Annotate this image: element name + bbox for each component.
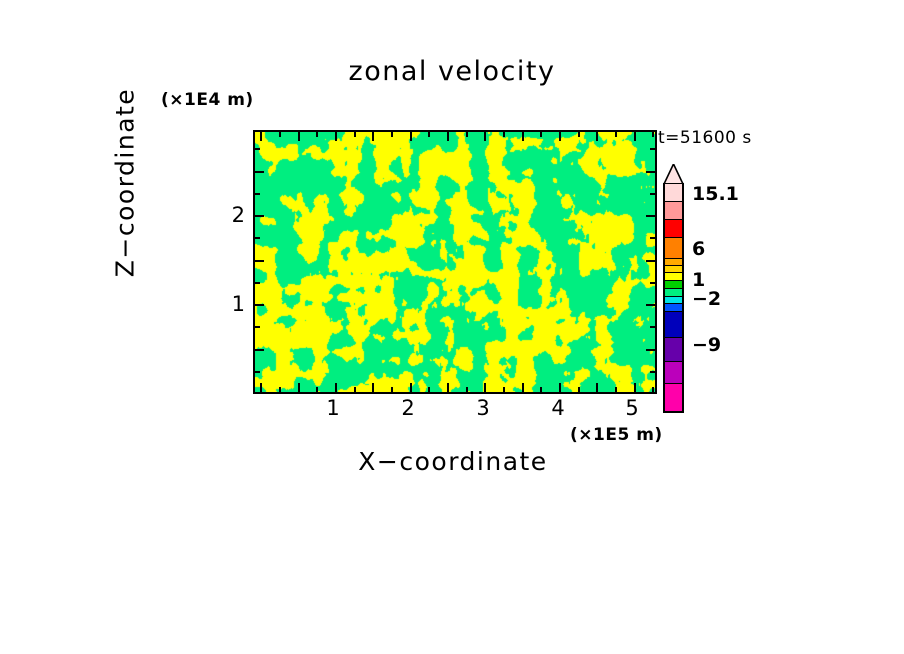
axis-tick-mark: [484, 132, 486, 141]
y-axis-unit-label: (×1E4 m): [161, 90, 254, 110]
colorbar-band: [663, 303, 684, 311]
axis-tick-mark: [503, 132, 505, 137]
axis-tick-mark: [540, 387, 542, 392]
axis-tick-mark: [652, 132, 654, 137]
axis-tick-mark: [615, 132, 617, 137]
axis-tick-mark: [578, 387, 580, 392]
axis-tick-mark: [428, 132, 430, 137]
axis-tick-mark: [255, 171, 264, 173]
axis-tick-mark: [372, 383, 374, 392]
axis-tick-mark: [410, 383, 412, 392]
axis-tick-mark: [652, 387, 654, 392]
axis-tick-mark: [354, 132, 356, 137]
time-annotation: t=51600 s: [658, 128, 752, 148]
axis-tick-mark: [503, 387, 505, 392]
axis-tick-mark: [255, 215, 264, 217]
colorbar-band: [663, 361, 684, 383]
colorbar-band: [663, 219, 684, 237]
axis-tick-mark: [335, 132, 337, 141]
axis-tick-mark: [650, 193, 655, 195]
axis-tick-mark: [255, 148, 260, 150]
colorbar-band: [663, 258, 684, 265]
axis-tick-mark: [255, 371, 260, 373]
axis-tick-mark: [255, 326, 260, 328]
colorbar-band: [663, 311, 684, 337]
x-tick-label: 3: [463, 396, 503, 420]
axis-tick-mark: [410, 132, 412, 141]
axis-tick-mark: [484, 383, 486, 392]
axis-tick-mark: [316, 387, 318, 392]
x-tick-label: 1: [313, 396, 353, 420]
axis-tick-mark: [650, 282, 655, 284]
colorbar-band: [663, 237, 684, 258]
colorbar-band: [663, 296, 684, 303]
contour-field: [255, 132, 655, 392]
axis-tick-mark: [522, 383, 524, 392]
axis-tick-mark: [522, 132, 524, 141]
x-axis-title: X−coordinate: [253, 447, 653, 476]
y-tick-label: 2: [205, 203, 245, 227]
axis-tick-mark: [255, 282, 260, 284]
axis-tick-mark: [335, 383, 337, 392]
axis-tick-mark: [255, 260, 264, 262]
axis-tick-mark: [354, 387, 356, 392]
axis-tick-mark: [634, 132, 636, 141]
axis-tick-mark: [646, 349, 655, 351]
axis-tick-mark: [634, 383, 636, 392]
axis-tick-mark: [279, 387, 281, 392]
colorbar: [663, 183, 684, 413]
axis-tick-mark: [255, 237, 260, 239]
axis-tick-mark: [646, 304, 655, 306]
axis-tick-mark: [596, 132, 598, 141]
axis-tick-mark: [447, 383, 449, 392]
x-tick-label: 5: [612, 396, 652, 420]
axis-tick-mark: [596, 383, 598, 392]
axis-tick-mark: [447, 132, 449, 141]
colorbar-band: [663, 272, 684, 280]
axis-tick-mark: [466, 132, 468, 137]
axis-tick-mark: [316, 132, 318, 137]
axis-tick-mark: [428, 387, 430, 392]
colorbar-band: [663, 288, 684, 296]
axis-tick-mark: [559, 383, 561, 392]
axis-tick-mark: [646, 260, 655, 262]
axis-tick-mark: [255, 349, 264, 351]
axis-tick-mark: [646, 171, 655, 173]
x-tick-label: 4: [538, 396, 578, 420]
axis-tick-mark: [578, 132, 580, 137]
colorbar-tick-label: −9: [692, 334, 721, 356]
colorbar-tick-label: −2: [692, 288, 721, 310]
colorbar-arrow-cap: [663, 164, 684, 184]
axis-tick-mark: [650, 326, 655, 328]
colorbar-band: [663, 383, 684, 413]
axis-tick-mark: [650, 237, 655, 239]
axis-tick-mark: [260, 132, 262, 141]
axis-tick-mark: [540, 132, 542, 137]
colorbar-tick-label: 6: [692, 238, 705, 260]
axis-tick-mark: [646, 215, 655, 217]
y-axis-title: Z−coordinate: [111, 53, 140, 313]
colorbar-band: [663, 337, 684, 361]
colorbar-tick-label: 15.1: [692, 183, 739, 205]
colorbar-band: [663, 265, 684, 272]
plot-area: [253, 130, 657, 394]
colorbar-band: [663, 201, 684, 219]
axis-tick-mark: [650, 148, 655, 150]
axis-tick-mark: [255, 193, 260, 195]
colorbar-band: [663, 183, 684, 201]
axis-tick-mark: [391, 132, 393, 137]
axis-tick-mark: [615, 387, 617, 392]
axis-tick-mark: [298, 383, 300, 392]
axis-tick-mark: [372, 132, 374, 141]
axis-tick-mark: [260, 383, 262, 392]
axis-tick-mark: [650, 371, 655, 373]
x-tick-label: 2: [388, 396, 428, 420]
axis-tick-mark: [466, 387, 468, 392]
axis-tick-mark: [255, 304, 264, 306]
axis-tick-mark: [391, 387, 393, 392]
axis-tick-mark: [298, 132, 300, 141]
x-axis-unit-label: (×1E5 m): [570, 425, 663, 445]
axis-tick-mark: [559, 132, 561, 141]
axis-tick-mark: [279, 132, 281, 137]
y-tick-label: 1: [205, 292, 245, 316]
colorbar-band: [663, 280, 684, 288]
